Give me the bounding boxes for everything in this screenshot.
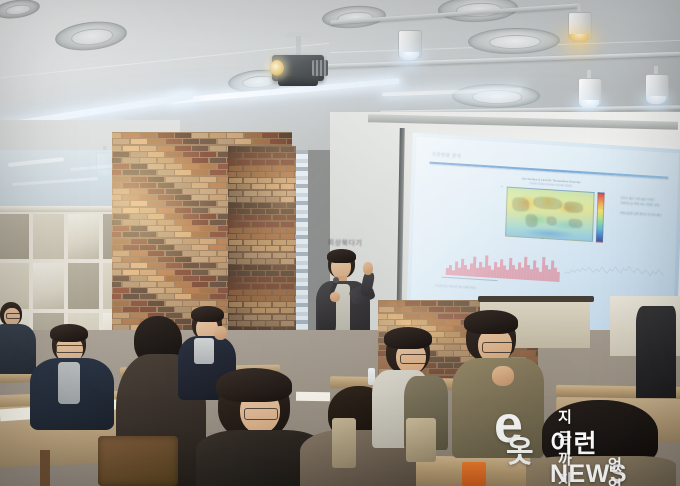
brick: [123, 158, 139, 163]
brick: [378, 301, 387, 306]
brick: [175, 146, 191, 151]
brick: [166, 152, 182, 157]
brick: [166, 226, 182, 231]
brick: [210, 282, 226, 287]
brick: [287, 166, 296, 171]
brick: [112, 257, 121, 262]
brick: [131, 263, 147, 268]
brick: [228, 209, 236, 214]
brick: [412, 307, 427, 312]
brick: [131, 239, 147, 244]
brick: [131, 301, 147, 306]
projector-vent: [312, 60, 328, 76]
brick: [112, 307, 121, 312]
brick: [287, 178, 296, 183]
brick: [228, 271, 236, 276]
brick: [158, 158, 174, 163]
brick: [227, 133, 243, 138]
brick: [183, 189, 199, 194]
brick: [252, 160, 265, 165]
brick: [112, 294, 121, 299]
brick: [228, 284, 236, 289]
brick: [140, 158, 156, 163]
brick: [166, 276, 182, 281]
brick: [287, 265, 296, 270]
brick: [175, 195, 191, 200]
brick: [281, 308, 294, 313]
brick: [200, 251, 216, 256]
brick: [123, 270, 139, 275]
brick: [183, 139, 199, 144]
brick: [123, 294, 139, 299]
brick: [192, 195, 208, 200]
brick: [175, 158, 191, 163]
brick: [270, 139, 286, 144]
brick: [112, 282, 121, 287]
brick: [200, 288, 216, 293]
brick: [175, 208, 191, 213]
brick: [266, 197, 279, 202]
brick: [200, 201, 216, 206]
brick: [252, 308, 265, 313]
brick: [112, 208, 121, 213]
brick: [266, 284, 279, 289]
brick: [158, 170, 174, 175]
brick: [112, 183, 121, 188]
brick: [131, 251, 147, 256]
brick: [166, 301, 182, 306]
brick: [200, 301, 216, 306]
brick: [258, 215, 271, 220]
brick: [210, 220, 226, 225]
brick: [273, 228, 286, 233]
brick: [438, 314, 453, 319]
brick: [252, 246, 265, 251]
brick: [258, 153, 271, 158]
brick: [183, 226, 199, 231]
brick: [123, 208, 139, 213]
brick: [266, 147, 279, 152]
brick: [279, 133, 292, 138]
slide-title-rule: [430, 162, 669, 179]
brick: [131, 139, 147, 144]
brick: [273, 203, 286, 208]
brick: [237, 234, 250, 239]
shelf-cubby: [31, 212, 66, 261]
brick: [266, 234, 279, 239]
brick: [258, 203, 271, 208]
brick: [148, 288, 164, 293]
brick: [210, 257, 226, 262]
brick: [123, 307, 139, 312]
brick: [228, 172, 236, 177]
brick: [244, 253, 257, 258]
brick: [166, 214, 182, 219]
brick: [166, 139, 182, 144]
brick: [266, 308, 279, 313]
brick: [113, 239, 129, 244]
brick: [244, 290, 257, 295]
brick: [200, 263, 216, 268]
brick: [295, 197, 296, 202]
brick: [258, 277, 271, 282]
brick: [273, 277, 286, 282]
colorbar-tick: -1: [602, 224, 604, 226]
brick: [266, 172, 279, 177]
brick: [281, 271, 294, 276]
brick: [244, 191, 257, 196]
brick: [445, 307, 460, 312]
brick: [281, 284, 294, 289]
colorbar-ticks: 3210-1-2-3: [601, 192, 615, 243]
brick: [158, 245, 174, 250]
brick: [123, 146, 139, 151]
brick: [273, 166, 286, 171]
brick: [183, 301, 199, 306]
presenter-left-hand: [330, 292, 340, 302]
brick: [140, 257, 156, 262]
brick: [273, 178, 286, 183]
brick: [148, 152, 164, 157]
brick: [287, 191, 296, 196]
brick: [429, 320, 444, 325]
brick: [131, 276, 147, 281]
brick: [166, 251, 182, 256]
brick: [287, 253, 296, 258]
brick: [228, 259, 236, 264]
brick: [287, 203, 296, 208]
brick: [192, 183, 208, 188]
brick: [148, 276, 164, 281]
map-axis-left: lat: [501, 186, 503, 188]
world-temperature-heatmap: [505, 187, 595, 242]
brick: [229, 302, 242, 307]
brick: [237, 296, 250, 301]
brick: [183, 152, 199, 157]
brick: [140, 146, 156, 151]
brick: [273, 302, 286, 307]
brick: [112, 220, 121, 225]
brick: [200, 239, 216, 244]
brick: [112, 170, 121, 175]
brick: [192, 257, 208, 262]
brick: [252, 259, 265, 264]
brick: [295, 308, 296, 313]
brick: [295, 209, 296, 214]
brick: [183, 251, 199, 256]
brick: [192, 294, 208, 299]
brick: [140, 195, 156, 200]
brick: [123, 232, 139, 237]
brick: [123, 282, 139, 287]
brick: [281, 296, 294, 301]
brick: [273, 215, 286, 220]
brick: [405, 314, 420, 319]
brick: [192, 270, 208, 275]
brick: [131, 288, 147, 293]
brick: [183, 263, 199, 268]
brick: [295, 222, 296, 227]
brick: [210, 170, 226, 175]
brick: [113, 189, 129, 194]
brick: [113, 152, 129, 157]
brick: [112, 245, 121, 250]
brick: [210, 133, 226, 138]
brick: [148, 164, 164, 169]
brick: [273, 191, 286, 196]
brick: [148, 214, 164, 219]
brick: [244, 240, 257, 245]
brick: [131, 177, 147, 182]
brick: [175, 220, 191, 225]
brick: [287, 139, 292, 144]
brick: [229, 191, 242, 196]
brick: [166, 189, 182, 194]
brick: [200, 276, 216, 281]
brick: [183, 177, 199, 182]
brick: [429, 307, 444, 312]
orange-cup: [462, 462, 486, 486]
brick: [123, 220, 139, 225]
brick: [148, 189, 164, 194]
brick: [123, 133, 139, 138]
chair-back: [332, 418, 356, 468]
brick: [237, 147, 250, 152]
presenter-right-hand: [363, 262, 373, 275]
brick: [112, 158, 121, 163]
brick: [166, 263, 182, 268]
brick: [158, 294, 174, 299]
brick: [273, 153, 286, 158]
brick: [175, 282, 191, 287]
brick: [200, 164, 216, 169]
shelf-cubby: [66, 212, 101, 261]
brick: [379, 307, 394, 312]
brick: [438, 301, 453, 306]
brick: [295, 172, 296, 177]
shelf-cubby: [0, 212, 31, 261]
colorbar-tick: -3: [601, 240, 603, 242]
brick: [192, 232, 208, 237]
brick: [148, 301, 164, 306]
brick: [158, 195, 174, 200]
brick: [113, 201, 129, 206]
brick: [421, 301, 436, 306]
brick: [244, 166, 257, 171]
brick: [210, 183, 226, 188]
brick: [287, 228, 296, 233]
brick: [113, 214, 129, 219]
brick: [287, 215, 296, 220]
brick: [158, 133, 174, 138]
brick: [237, 184, 250, 189]
presenter-hair: [327, 249, 356, 263]
brick: [258, 290, 271, 295]
brick: [266, 259, 279, 264]
brick: [158, 307, 174, 312]
attendee-shirt: [194, 338, 214, 364]
brick: [412, 320, 427, 325]
brick: [113, 251, 129, 256]
brick: [281, 184, 294, 189]
brick: [112, 146, 121, 151]
brick: [113, 263, 129, 268]
watermark: e 옷 지금까지 이런 NEWS 없었다: [488, 402, 678, 482]
brick: [229, 215, 242, 220]
brick: [192, 146, 208, 151]
brick: [454, 301, 469, 306]
brick: [229, 178, 242, 183]
brick: [228, 147, 236, 152]
brick: [266, 184, 279, 189]
brick: [421, 314, 436, 319]
brick: [229, 153, 242, 158]
brick: [112, 195, 121, 200]
brick: [252, 147, 265, 152]
brick: [295, 246, 296, 251]
brick: [252, 209, 265, 214]
brick: [258, 178, 271, 183]
brick: [131, 189, 147, 194]
chair-back: [406, 418, 436, 462]
brick: [200, 139, 216, 144]
brick: [295, 184, 296, 189]
brick: [237, 209, 250, 214]
brick: [140, 270, 156, 275]
brick: [287, 153, 296, 158]
brick: [295, 160, 296, 165]
chair-leg: [40, 450, 50, 486]
brick: [228, 197, 236, 202]
brick: [258, 228, 271, 233]
brick: [175, 257, 191, 262]
attendee-shirt: [58, 362, 80, 404]
brick: [245, 133, 261, 138]
brick: [229, 240, 242, 245]
brick: [252, 234, 265, 239]
brick: [175, 183, 191, 188]
brick: [140, 282, 156, 287]
brick: [229, 228, 242, 233]
brick: [112, 232, 121, 237]
brick: [210, 146, 226, 151]
watermark-logo-hangul: 옷: [506, 430, 534, 476]
brick: [396, 307, 411, 312]
brick: [258, 253, 271, 258]
brick: [237, 271, 250, 276]
brick: [175, 232, 191, 237]
brick: [252, 197, 265, 202]
brick: [252, 284, 265, 289]
brick: [281, 197, 294, 202]
brick: [166, 164, 182, 169]
brick: [229, 253, 242, 258]
brick: [123, 170, 139, 175]
brick: [113, 164, 129, 169]
anomaly-trend-line: [564, 258, 665, 288]
brick: [281, 246, 294, 251]
brick: [273, 315, 286, 320]
brick: [113, 288, 129, 293]
brick: [148, 251, 164, 256]
brick: [273, 265, 286, 270]
brick: [113, 139, 129, 144]
brick: [192, 282, 208, 287]
brick: [228, 246, 236, 251]
brick: [378, 314, 387, 319]
brick: [237, 321, 250, 326]
brick: [228, 222, 236, 227]
brick: [237, 246, 250, 251]
brick: [131, 152, 147, 157]
brick: [175, 245, 191, 250]
slide-title: 기후변화 분석: [432, 152, 462, 160]
brick: [295, 259, 296, 264]
brick: [281, 259, 294, 264]
colorbar-tick: 3: [603, 192, 604, 194]
brick: [237, 160, 250, 165]
seminar-photo: 회상북다기 기후변화 분석 Sea Surface & Land Air Tem…: [0, 0, 680, 486]
brick: [295, 321, 296, 326]
brick: [266, 321, 279, 326]
brick: [131, 201, 147, 206]
projector-lens: [270, 60, 284, 76]
brick: [148, 201, 164, 206]
brick: [252, 321, 265, 326]
brick: [158, 257, 174, 262]
brick: [229, 290, 242, 295]
brick: [229, 203, 242, 208]
brick: [158, 208, 174, 213]
brick: [123, 257, 139, 262]
brick: [237, 284, 250, 289]
colorbar-tick: -2: [601, 232, 603, 234]
brick: [258, 265, 271, 270]
brick: [237, 259, 250, 264]
brick: [405, 301, 420, 306]
brick: [123, 245, 139, 250]
brick: [200, 214, 216, 219]
brick: [148, 226, 164, 231]
brick: [200, 189, 216, 194]
brick: [200, 226, 216, 231]
brick: [183, 276, 199, 281]
brick: [287, 302, 296, 307]
brick: [158, 146, 174, 151]
brick: [237, 172, 250, 177]
brick: [140, 208, 156, 213]
brick: [228, 160, 236, 165]
brick: [295, 296, 296, 301]
brick: [379, 320, 394, 325]
brick: [140, 133, 156, 138]
watermark-logo: e 옷: [490, 406, 548, 472]
map-axis-bottom: lon: [541, 238, 544, 240]
brick: [140, 183, 156, 188]
brick: [244, 228, 257, 233]
brick: [266, 296, 279, 301]
brick: [210, 245, 226, 250]
brick: [158, 220, 174, 225]
brick: [123, 183, 139, 188]
brick: [140, 307, 156, 312]
brick: [200, 177, 216, 182]
projector-body: [278, 76, 318, 86]
brick: [237, 222, 250, 227]
brick: [287, 315, 296, 320]
brick: [113, 226, 129, 231]
back-counter-top: [478, 296, 594, 302]
